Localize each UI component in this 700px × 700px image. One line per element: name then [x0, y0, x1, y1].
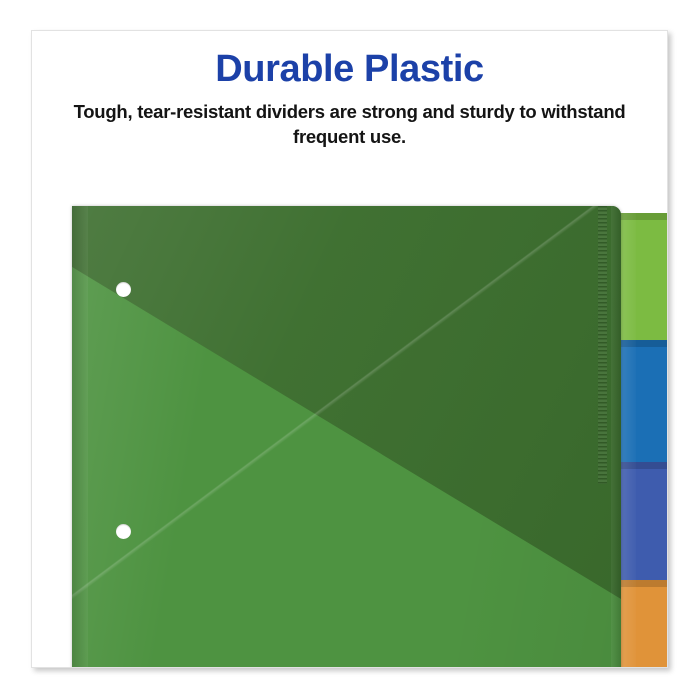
divider-sheet [72, 206, 621, 668]
punch-hole-bottom [116, 524, 131, 539]
punch-hole-top [116, 282, 131, 297]
product-card: Durable Plastic Tough, tear-resistant di… [31, 30, 668, 668]
product-image [32, 31, 667, 667]
pocket-overlay [72, 206, 621, 599]
reinforced-ridge-strip [598, 206, 607, 484]
right-edge-shading [611, 206, 621, 668]
pocket-fold-highlight [72, 206, 621, 599]
pocket-overlay-gloss [72, 206, 621, 599]
binding-edge-shading [72, 206, 88, 668]
sheet-sheen [72, 206, 621, 668]
